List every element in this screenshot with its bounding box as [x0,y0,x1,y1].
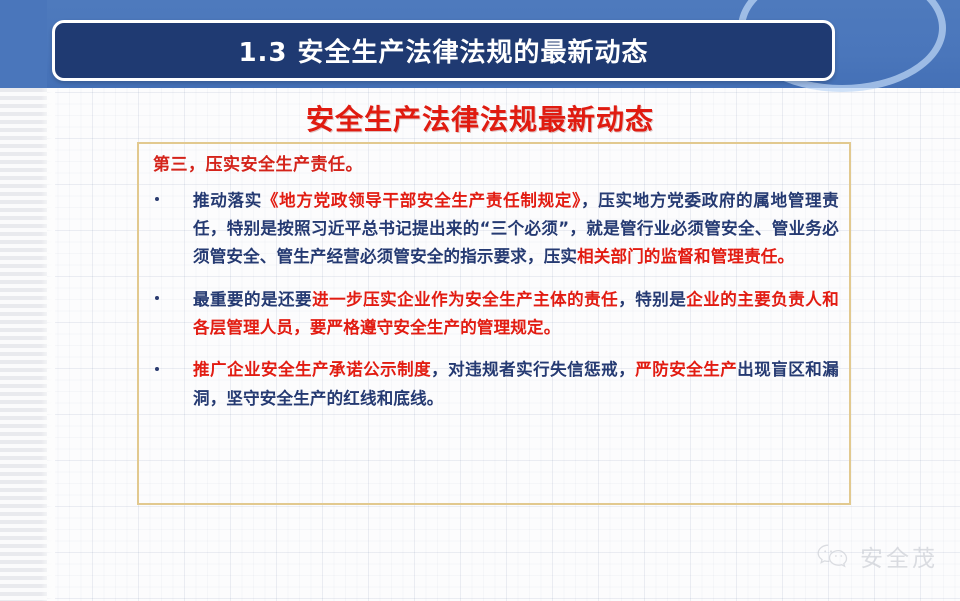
section-heading: 安全生产法律法规最新动态 [0,98,960,138]
bullet-text: 推动落实《地方党政领导干部安全生产责任制规定》，压实地方党委政府的属地管理责任，… [193,191,839,267]
text-run-blue: ，对违规者实行失信惩戒， [431,360,635,379]
bullet-dot-icon [155,367,159,371]
bullet-dot-icon [155,296,159,300]
left-stripe-fade [41,88,55,601]
lead-statement: 第三，压实安全生产责任。 [153,153,839,179]
text-run-red: 相关部门的监督和管理责任。 [577,247,794,266]
page-title: 1.3 安全生产法律法规的最新动态 [238,32,648,69]
watermark-label: 安全茂 [860,539,938,573]
bullet-list: 推动落实《地方党政领导干部安全生产责任制规定》，压实地方党委政府的属地管理责任，… [149,187,839,414]
bullet-text: 推广企业安全生产承诺公示制度，对违规者实行失信惩戒，严防安全生产出现盲区和漏洞，… [193,360,839,407]
bullet-dot-icon [155,197,159,201]
wechat-icon [816,543,850,569]
bullet-text: 最重要的是还要进一步压实企业作为安全生产主体的责任，特别是企业的主要负责人和各层… [193,290,839,337]
text-run-blue: 最重要的是还要 [193,290,312,309]
text-run-red: 推广企业安全生产承诺公示制度 [193,360,431,379]
left-stripe-pattern [0,88,47,601]
text-run-red: 严防安全生产 [635,360,737,379]
watermark: 安全茂 [816,539,938,573]
text-run-red: 进一步压实企业作为安全生产主体的责任 [312,290,618,309]
list-item: 最重要的是还要进一步压实企业作为安全生产主体的责任，特别是企业的主要负责人和各层… [149,286,839,343]
list-item: 推广企业安全生产承诺公示制度，对违规者实行失信惩戒，严防安全生产出现盲区和漏洞，… [149,356,839,413]
text-run-red: 《地方党政领导干部安全生产责任制规定》 [262,191,581,210]
list-item: 推动落实《地方党政领导干部安全生产责任制规定》，压实地方党委政府的属地管理责任，… [149,187,839,272]
left-stripe-top-cap [0,0,47,88]
content-box-inner: 第三，压实安全生产责任。 推动落实《地方党政领导干部安全生产责任制规定》，压实地… [149,153,839,413]
slide-canvas: 1.3 安全生产法律法规的最新动态 安全生产法律法规最新动态 第三，压实安全生产… [0,0,960,601]
slide-title-plaque: 1.3 安全生产法律法规的最新动态 [52,20,835,81]
text-run-blue: ，特别是 [618,290,686,309]
text-run-blue: 推动落实 [193,191,262,210]
content-box: 第三，压实安全生产责任。 推动落实《地方党政领导干部安全生产责任制规定》，压实地… [137,142,851,505]
